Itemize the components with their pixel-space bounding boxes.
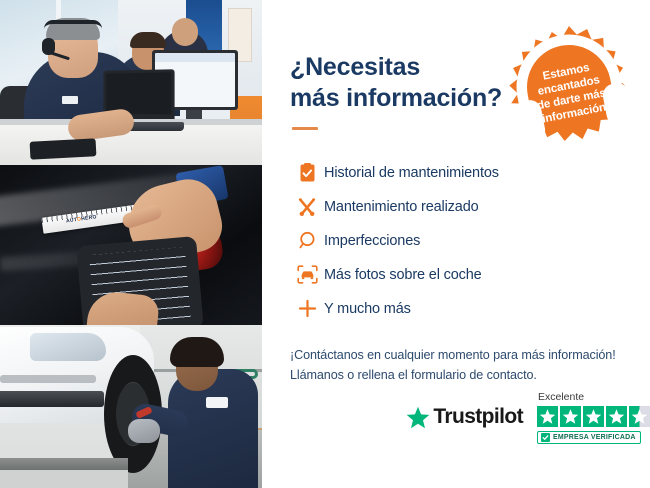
magnifier-icon [290,231,324,250]
mechanic-wheel-photo [0,325,262,488]
laptop-screen [106,72,171,114]
promo-card: AUTOHERO [0,0,650,488]
star-filled [537,406,558,427]
page-title-line-2: más información? [290,84,502,112]
contact-text-line-2: Llámanos o rellena el formulario de cont… [290,368,537,382]
mechanic-glove [128,419,160,443]
headset-band-icon [44,20,102,29]
content-panel: ¿Necesitas más información? Estamos enca… [262,0,650,488]
feature-label: Mantenimiento realizado [324,199,479,215]
ruler-brand-part3: HERO [81,214,97,222]
plus-icon [290,299,324,318]
page-title-line-1: ¿Necesitas [290,53,420,81]
feature-label: Más fotos sobre el coche [324,267,482,283]
document-check-icon [290,163,324,183]
feature-item-more-photos: Más fotos sobre el coche [290,258,628,291]
trustpilot-wordmark: Trustpilot [433,405,523,429]
car-headlight [30,333,106,361]
car-inspection-ruler-photo: AUTOHERO [0,165,262,325]
vehicle-lift-arm [0,458,128,470]
rating-label: Excelente [538,391,584,403]
feature-label: Y mucho más [324,301,411,317]
photo-column: AUTOHERO [0,0,262,488]
car-upper-grille [0,375,96,383]
headset-icon [495,13,643,161]
car-lower-grille [0,391,104,407]
call-center-agent-photo [0,0,262,165]
star-half [629,406,650,427]
feature-item-much-more: Y mucho más [290,292,628,325]
trustpilot-widget[interactable]: Trustpilot Excelente [290,391,650,444]
feature-item-imperfections: Imperfecciones [290,224,628,257]
background-colleague-1-hair [130,32,166,48]
feature-label: Imperfecciones [324,233,420,249]
feature-item-maintenance-done: Mantenimiento realizado [290,190,628,223]
workshop-floor [0,470,128,488]
ruler-brand-part1: AUT [66,217,78,224]
verified-business-label: EMPRESA VERIFICADA [553,434,636,441]
trustpilot-rating: Excelente [537,391,650,444]
contact-text: ¡Contáctanos en cualquier momento para m… [290,345,628,386]
feature-label: Historial de mantenimientos [324,165,499,181]
verified-business-badge: EMPRESA VERIFICADA [537,431,641,444]
page-title: ¿Necesitas más información? [290,52,520,113]
mechanic-hair [170,337,224,367]
contact-text-line-1: ¡Contáctanos en cualquier momento para m… [290,348,616,362]
agent-name-badge [62,96,78,104]
feature-list: Historial de mantenimientos Mantenimient… [290,156,628,325]
desk-tablet [30,138,97,159]
title-divider [292,127,318,130]
support-badge: Estamos encantados de darte más informac… [506,24,632,150]
star-filled [583,406,604,427]
mechanic-uniform-logo [206,397,228,408]
star-filled [560,406,581,427]
star-rating [537,406,650,427]
support-badge-content: Estamos encantados de darte más informac… [495,13,643,161]
car-scan-icon [290,265,324,284]
background-colleague-2-head [172,18,198,46]
trustpilot-logo[interactable]: Trustpilot [406,405,523,429]
trustpilot-star-icon [406,406,430,429]
feature-item-maintenance-history: Historial de mantenimientos [290,156,628,189]
star-filled [606,406,627,427]
check-icon [541,433,550,442]
tools-cross-icon [290,197,324,217]
